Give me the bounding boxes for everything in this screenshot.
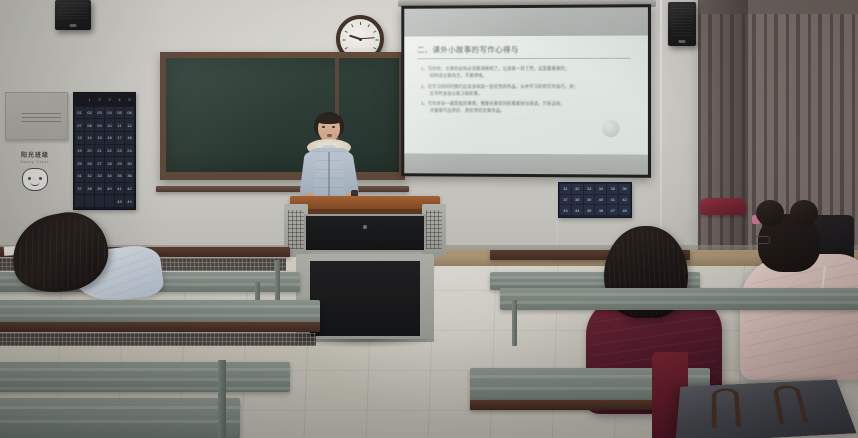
chart-header-cell: 2 xyxy=(95,94,104,106)
chart-cell: 42 xyxy=(619,195,630,205)
clock-minute-hand xyxy=(360,37,375,39)
chart-cell: 42 xyxy=(125,183,134,195)
chart-cell: 10 xyxy=(105,119,114,131)
chart-cell: 38 xyxy=(572,195,583,205)
chart-cell: 39 xyxy=(584,195,595,205)
chart-header-cell: 5 xyxy=(125,94,134,106)
chart-cell: 31 xyxy=(75,170,84,182)
tote-bag-handle-left xyxy=(712,388,741,428)
cartoon-mouth xyxy=(31,182,40,186)
chart-row: 070809101112 xyxy=(75,119,134,131)
lectern-top xyxy=(290,196,440,210)
chart-cell: 47 xyxy=(607,205,618,215)
duty-number-chart-left: 1234501020304050607080910111213141516171… xyxy=(73,92,136,210)
bench-right-mid xyxy=(500,288,858,310)
chart-cell: 01 xyxy=(75,107,84,119)
lectern-base-panel xyxy=(310,261,420,336)
chart-cell: 09 xyxy=(95,119,104,131)
lectern-speaker-mesh xyxy=(426,210,442,249)
chart-cell: 26 xyxy=(85,157,94,169)
chart-cell: 41 xyxy=(115,183,124,195)
desk-shelf-mesh xyxy=(0,333,316,346)
chart-cell: 24 xyxy=(125,145,134,157)
chart-cell: 48 xyxy=(619,205,630,215)
chart-cell: 02 xyxy=(85,107,94,119)
student-right-puffer-quilt xyxy=(745,260,858,380)
chart-cell: 21 xyxy=(95,145,104,157)
slide-title: 二、课外小故事的写作心得与 xyxy=(417,44,635,56)
chart-cell: 40 xyxy=(595,195,606,205)
chart-row: 010203040506 xyxy=(75,107,134,119)
chart-header-row: 12345 xyxy=(75,94,134,106)
speaker-icon-left xyxy=(55,0,91,30)
speaker-grille xyxy=(671,5,693,37)
cartoon-poster: 阳光班级 Sunny Class xyxy=(8,150,62,208)
student-left xyxy=(12,214,172,314)
chart-cell xyxy=(75,195,84,207)
student-right-hair-bun-left xyxy=(756,200,784,226)
student-right-puffer xyxy=(740,254,858,380)
chart-cell: 16 xyxy=(105,132,114,144)
screen-band-top xyxy=(404,7,648,36)
chart-cell xyxy=(85,195,94,207)
chart-cell: 34 xyxy=(595,184,606,194)
chart-cell: 38 xyxy=(85,183,94,195)
desk-leg xyxy=(218,360,226,438)
cartoon-face-icon xyxy=(22,168,48,191)
screen-band-bottom xyxy=(404,154,648,175)
chart-cell: 32 xyxy=(572,184,583,194)
screen-surface: 二、课外小故事的写作心得与 1、写作时，文章的结构必须要清晰明了，让读者一目了然… xyxy=(404,7,648,175)
chart-cell: 44 xyxy=(572,205,583,215)
classroom-scene: 二、课外小故事的写作心得与 1、写作时，文章的结构必须要清晰明了，让读者一目了然… xyxy=(0,0,858,438)
presenter-mouth xyxy=(327,134,332,137)
chart-cell: 45 xyxy=(584,205,595,215)
student-right-hair-bun-right xyxy=(790,200,818,226)
chart-cell: 19 xyxy=(75,145,84,157)
chart-header-cell xyxy=(75,94,84,106)
chart-cell: 07 xyxy=(75,119,84,131)
chart-row: 192021222324 xyxy=(75,145,134,157)
chart-cell: 03 xyxy=(95,107,104,119)
lectern-speaker-mesh xyxy=(288,210,304,249)
slide-content: 二、课外小故事的写作心得与 1、写作时，文章的结构必须要清晰明了，让读者一目了然… xyxy=(404,36,648,155)
bullet-2-line-2: 在平时多加以练习和积累。 xyxy=(421,91,635,98)
glasses-icon xyxy=(752,236,770,244)
chart-cell: 11 xyxy=(115,119,124,131)
chart-cell: 04 xyxy=(105,107,114,119)
chart-cell: 33 xyxy=(584,184,595,194)
chart-cell: 43 xyxy=(115,195,124,207)
bench-front-left xyxy=(0,362,290,392)
chart-cell xyxy=(95,195,104,207)
chart-cell: 36 xyxy=(619,184,630,194)
chart-cell: 36 xyxy=(125,170,134,182)
chart-cell: 18 xyxy=(125,132,134,144)
tote-bag xyxy=(675,380,856,438)
chart-cell xyxy=(105,195,114,207)
chart-row: 434445464748 xyxy=(560,205,630,215)
chart-cell: 15 xyxy=(95,132,104,144)
slide-bullet-1: 1、写作时，文章的结构必须要清晰明了，让读者一目了然，这是最重要的； 同时语言要… xyxy=(421,66,635,80)
chart-cell: 22 xyxy=(105,145,114,157)
chart-cell: 08 xyxy=(85,119,94,131)
chart-cell: 35 xyxy=(115,170,124,182)
chart-cell: 14 xyxy=(85,132,94,144)
chart-cell: 31 xyxy=(560,184,571,194)
chart-cell: 37 xyxy=(75,183,84,195)
chart-cell: 35 xyxy=(607,184,618,194)
speaker-led xyxy=(679,40,686,43)
lectern-monitor-panel xyxy=(304,214,426,252)
slide-bullet-list: 1、写作时，文章的结构必须要清晰明了，让读者一目了然，这是最重要的； 同时语言要… xyxy=(417,66,635,115)
speaker-grille xyxy=(58,3,88,21)
bullet-2-line-1: 2、在学习的同时我们应该多阅读一些优秀的作品，从中学习好的写作技巧，并； xyxy=(421,84,578,89)
chart-cell: 37 xyxy=(560,195,571,205)
clock-center-pin xyxy=(359,38,362,41)
slide-title-rule xyxy=(417,58,631,60)
presenter-eye-left xyxy=(322,126,325,128)
chart-cell: 33 xyxy=(95,170,104,182)
bench-front-left-2 xyxy=(0,398,240,438)
chart-cell: 43 xyxy=(560,205,571,215)
desk-leg xyxy=(512,300,517,346)
presenter-fringe xyxy=(317,114,341,124)
chart-header-cell: 3 xyxy=(105,94,114,106)
cartoon-poster-caption: 阳光班级 xyxy=(8,150,62,159)
chart-cell: 39 xyxy=(95,183,104,195)
projection-screen[interactable]: 二、课外小故事的写作心得与 1、写作时，文章的结构必须要清晰明了，让读者一目了然… xyxy=(401,4,651,178)
cartoon-poster-subcaption: Sunny Class xyxy=(8,160,62,164)
lectern-knob xyxy=(363,225,367,229)
speaker-icon-right xyxy=(668,2,696,46)
chart-cell: 17 xyxy=(115,132,124,144)
chart-row: 4344 xyxy=(75,195,134,207)
slide-decoration-circle xyxy=(602,120,619,137)
chart-cell: 40 xyxy=(105,183,114,195)
bullet-1-line-1: 1、写作时，文章的结构必须要清晰明了，让读者一目了然，这是最重要的； xyxy=(421,66,569,71)
chart-header-cell: 4 xyxy=(115,94,124,106)
bullet-3-line-1: 3、写作并非一蹴而就的事情，需要长期坚持积累素材与阅读，只有这样； xyxy=(421,101,565,106)
chart-row: 252627282930 xyxy=(75,157,134,169)
chart-cell: 41 xyxy=(607,195,618,205)
bullet-1-line-2: 同时语言要简洁，不要啰嗦。 xyxy=(421,73,635,80)
chart-cell: 30 xyxy=(125,157,134,169)
chart-cell: 05 xyxy=(115,107,124,119)
notice-poster xyxy=(5,92,68,140)
chart-row: 131415161718 xyxy=(75,132,134,144)
chart-cell: 12 xyxy=(125,119,134,131)
chart-cell: 27 xyxy=(95,157,104,169)
speaker-led xyxy=(70,24,77,27)
red-bag-on-bench xyxy=(700,198,746,215)
chart-cell: 28 xyxy=(105,157,114,169)
chart-cell: 13 xyxy=(75,132,84,144)
chart-row: 313233343536 xyxy=(75,170,134,182)
desk-top xyxy=(0,322,320,332)
chart-header-cell: 1 xyxy=(85,94,94,106)
chart-row: 313233343536 xyxy=(560,184,630,194)
chart-cell: 25 xyxy=(75,157,84,169)
chart-cell: 23 xyxy=(115,145,124,157)
chart-cell: 44 xyxy=(125,195,134,207)
chart-row: 373839404142 xyxy=(560,195,630,205)
chalk-tray xyxy=(156,186,409,192)
slide-bullet-2: 2、在学习的同时我们应该多阅读一些优秀的作品，从中学习好的写作技巧，并； 在平时… xyxy=(421,84,635,98)
notice-text-lines xyxy=(22,113,61,123)
chart-cell: 46 xyxy=(595,205,606,215)
chart-cell: 20 xyxy=(85,145,94,157)
chart-cell: 34 xyxy=(105,170,114,182)
blackboard-sheen xyxy=(166,58,399,172)
chart-cell: 29 xyxy=(115,157,124,169)
chart-row: 373839404142 xyxy=(75,183,134,195)
blackboard xyxy=(160,52,405,180)
chart-cell: 32 xyxy=(85,170,94,182)
bullet-3-line-2: 才能够写出更好、更优秀的文章作品。 xyxy=(421,108,635,115)
chart-cell: 06 xyxy=(125,107,134,119)
presenter-eye-right xyxy=(332,126,335,128)
slide-bullet-3: 3、写作并非一蹴而就的事情，需要长期坚持积累素材与阅读，只有这样； 才能够写出更… xyxy=(421,101,635,115)
duty-number-chart-right: 313233343536373839404142434445464748 xyxy=(558,182,632,218)
tote-bag-felt-texture xyxy=(675,380,856,438)
